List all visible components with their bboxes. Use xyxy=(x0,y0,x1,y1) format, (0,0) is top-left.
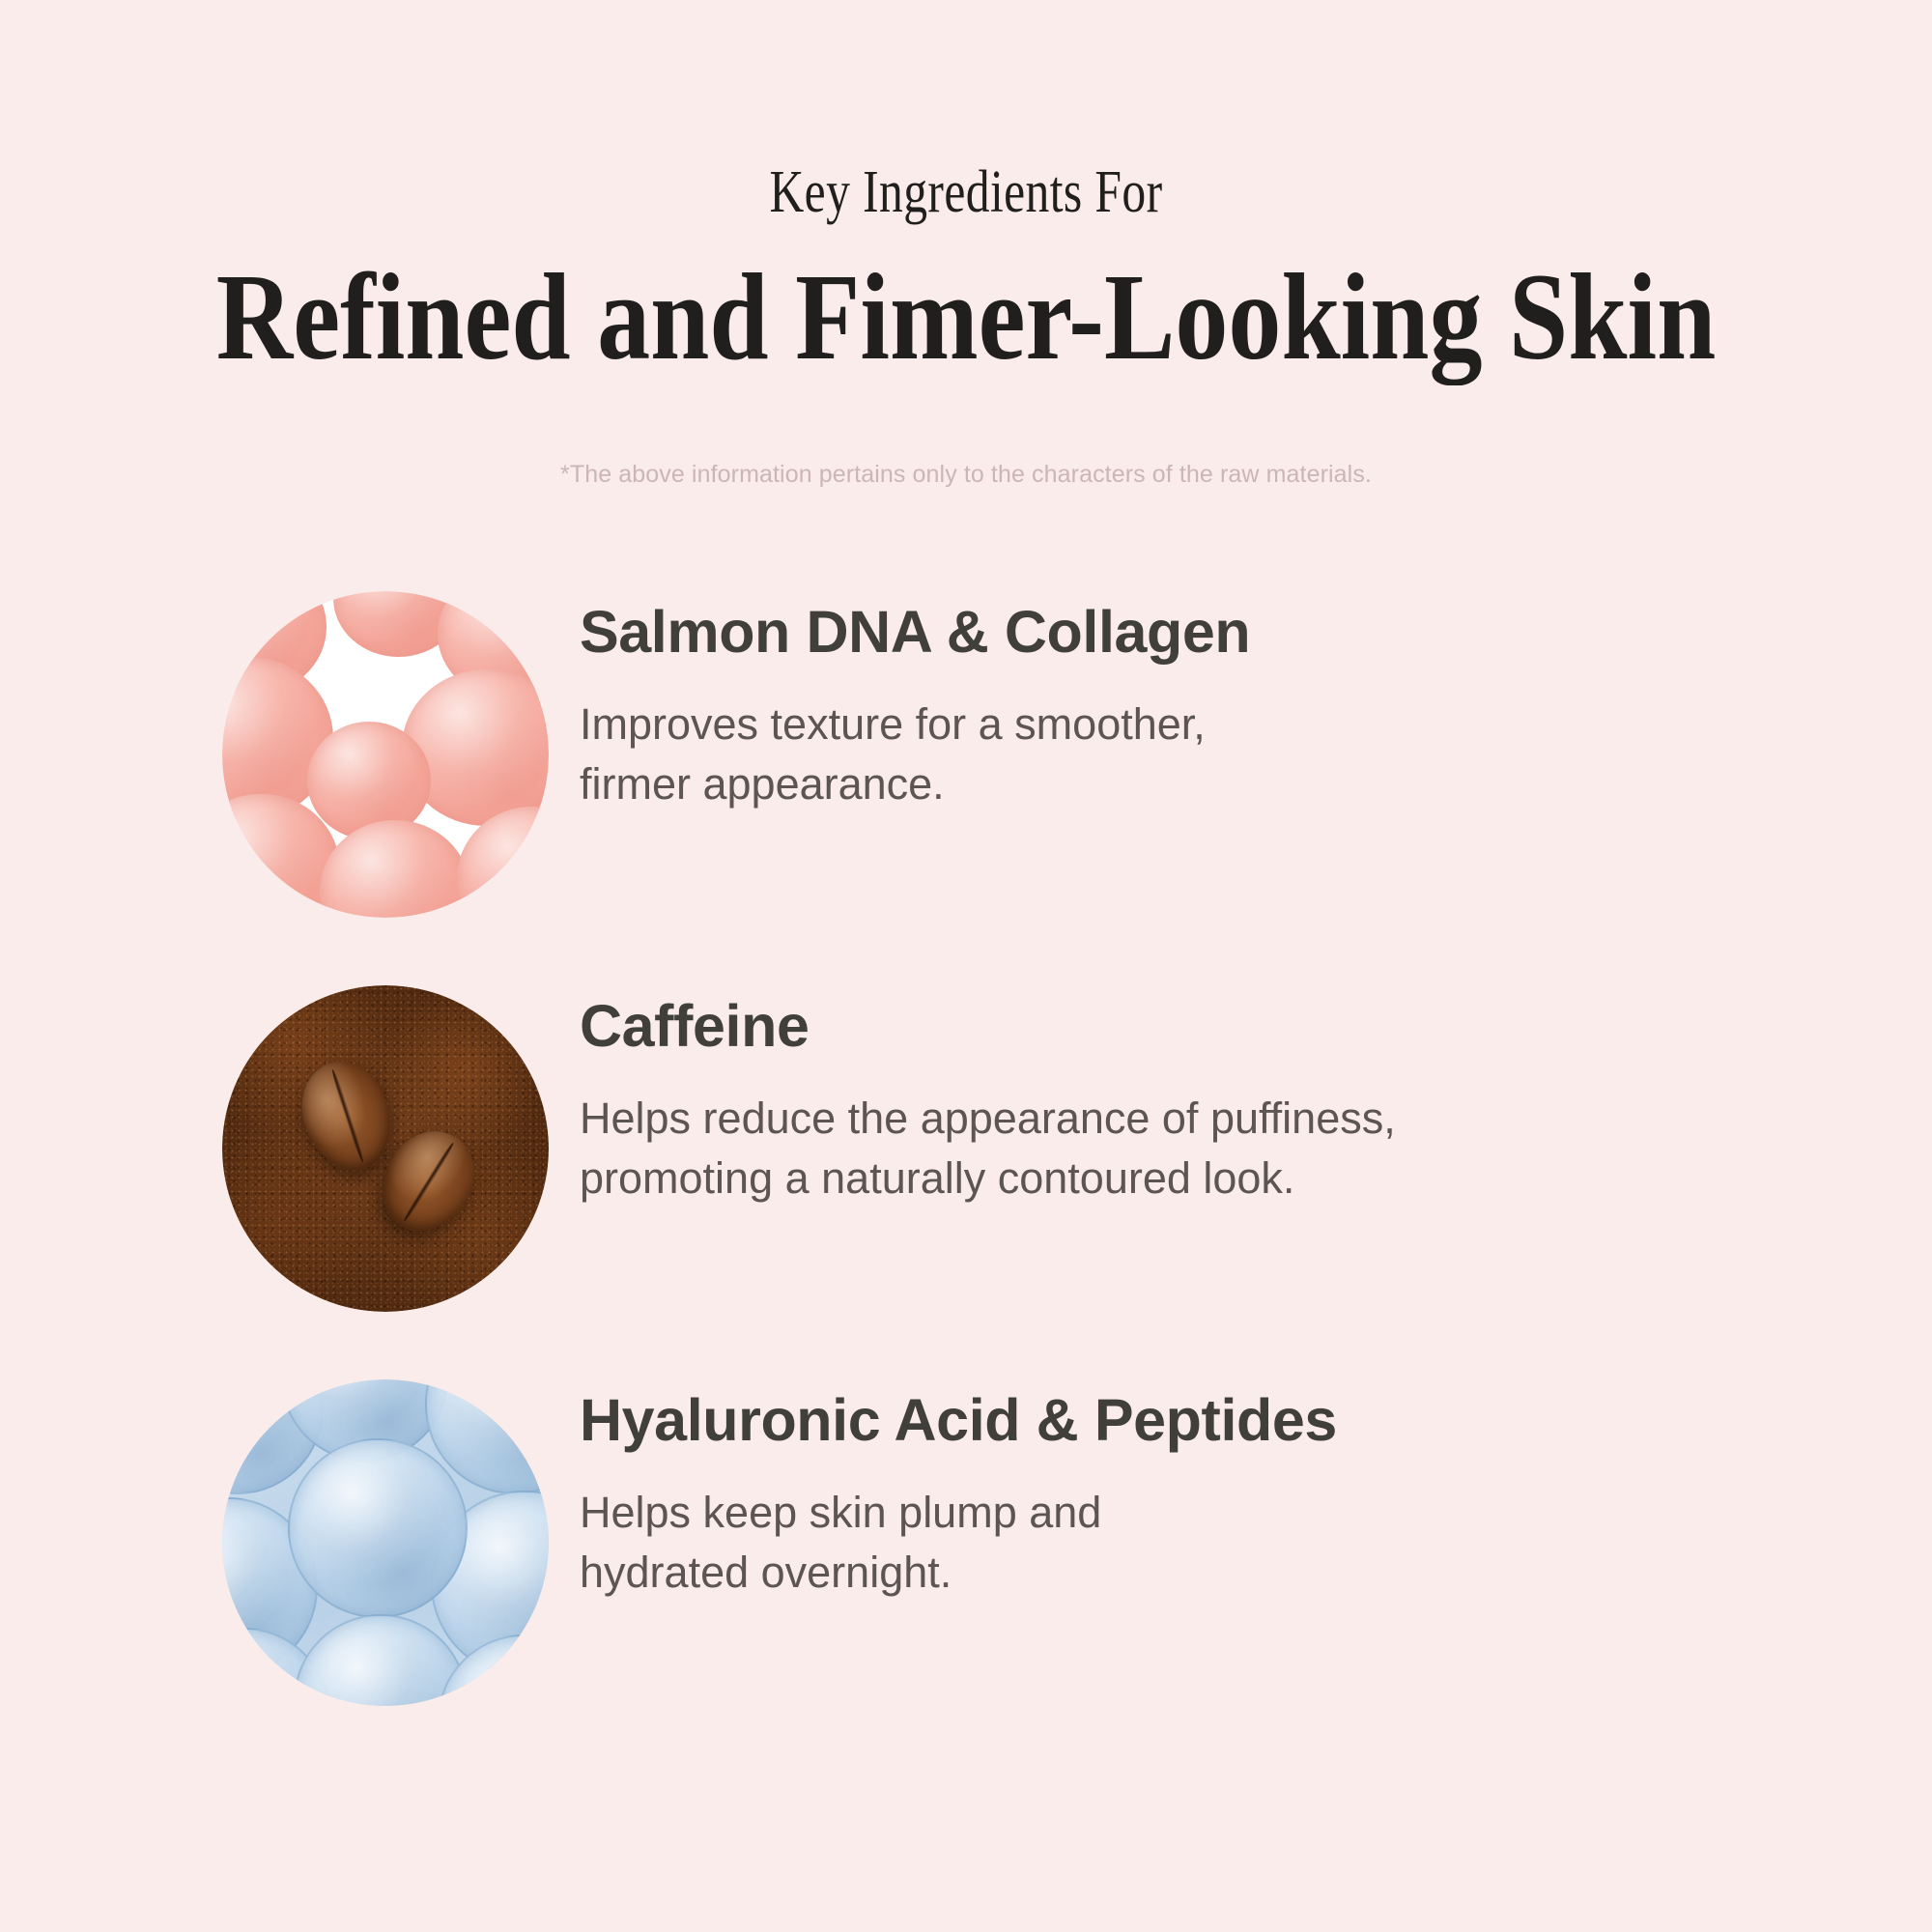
disclaimer-text: *The above information pertains only to … xyxy=(0,462,1932,489)
thumbnail-wrap xyxy=(0,591,580,918)
ingredient-description: Improves texture for a smoother, firmer … xyxy=(580,695,1787,814)
ingredient-title: Caffeine xyxy=(580,997,1932,1056)
ingredient-text: Hyaluronic Acid & Peptides Helps keep sk… xyxy=(580,1379,1932,1603)
list-item: Salmon DNA & Collagen Improves texture f… xyxy=(0,591,1932,985)
list-item: Hyaluronic Acid & Peptides Helps keep sk… xyxy=(0,1379,1932,1774)
header: Key Ingredients For Refined and Fimer-Lo… xyxy=(0,0,1932,488)
thumbnail-wrap xyxy=(0,1379,580,1706)
ingredient-text: Salmon DNA & Collagen Improves texture f… xyxy=(580,591,1932,814)
ingredient-description: Helps reduce the appearance of puffiness… xyxy=(580,1089,1787,1208)
thumbnail-wrap xyxy=(0,985,580,1312)
ingredient-text: Caffeine Helps reduce the appearance of … xyxy=(580,985,1932,1208)
description-line: promoting a naturally contoured look. xyxy=(580,1149,1787,1208)
eyebrow-text: Key Ingredients For xyxy=(193,162,1739,222)
description-line: hydrated overnight. xyxy=(580,1543,1787,1603)
blue-water-spheres-photo xyxy=(222,1379,549,1706)
ingredient-list: Salmon DNA & Collagen Improves texture f… xyxy=(0,591,1932,1774)
page-title: Refined and Fimer-Looking Skin xyxy=(135,255,1797,379)
description-line: Helps keep skin plump and xyxy=(580,1483,1787,1543)
ingredient-title: Salmon DNA & Collagen xyxy=(580,603,1932,662)
description-line: firmer appearance. xyxy=(580,754,1787,814)
ingredient-description: Helps keep skin plump and hydrated overn… xyxy=(580,1483,1787,1603)
description-line: Improves texture for a smoother, xyxy=(580,695,1787,754)
pink-gel-capsules-photo xyxy=(222,591,549,918)
ingredients-infographic: Key Ingredients For Refined and Fimer-Lo… xyxy=(0,0,1932,1932)
list-item: Caffeine Helps reduce the appearance of … xyxy=(0,985,1932,1379)
ingredient-title: Hyaluronic Acid & Peptides xyxy=(580,1391,1932,1450)
coffee-grounds-and-beans-photo xyxy=(222,985,549,1312)
description-line: Helps reduce the appearance of puffiness… xyxy=(580,1089,1787,1149)
